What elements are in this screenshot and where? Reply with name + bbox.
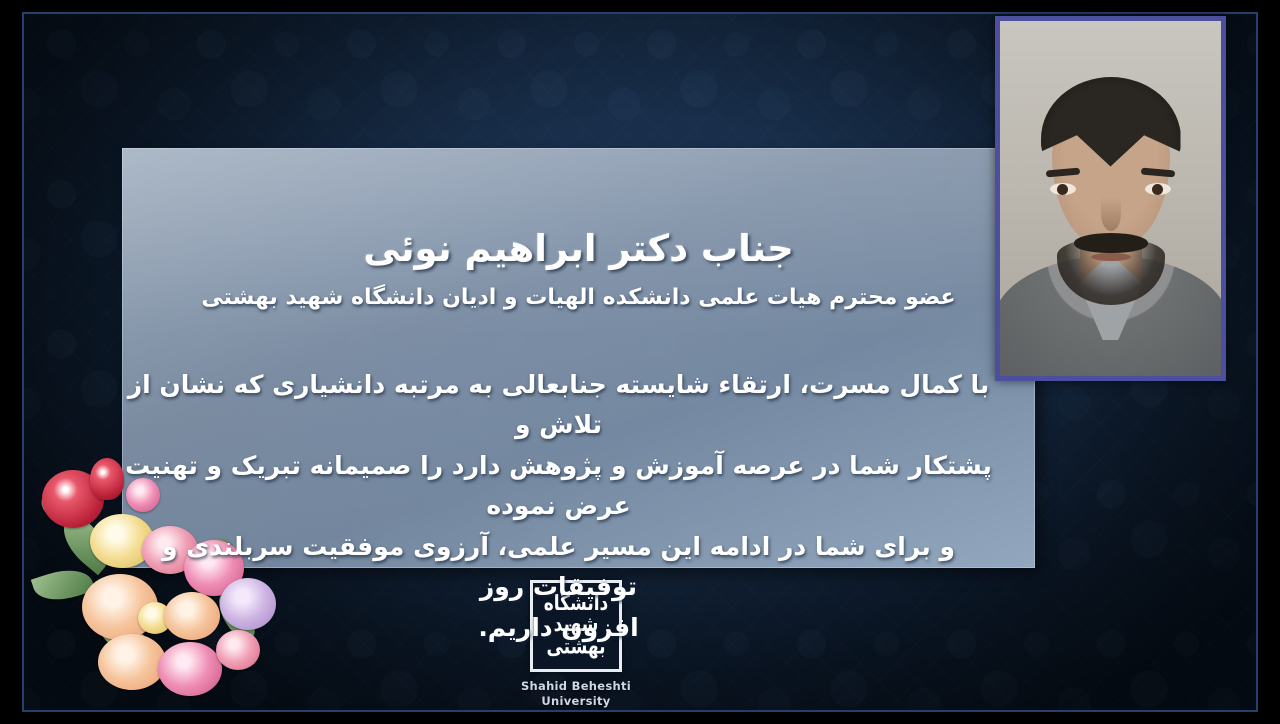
avatar bbox=[1000, 21, 1221, 376]
message-line-3: و برای شما در ادامه این مسیر علمی، آرزوی… bbox=[116, 527, 1001, 608]
message-panel: جناب دکتر ابراهیم نوئی عضو محترم هیات عل… bbox=[122, 148, 1035, 568]
portrait-eye-left bbox=[1050, 183, 1076, 195]
logo-english-line-1: Shahid Beheshti bbox=[512, 679, 640, 694]
page-title: جناب دکتر ابراهیم نوئی bbox=[156, 226, 1001, 272]
portrait-mouth bbox=[1091, 253, 1131, 261]
message-line-4: افزون داریم. bbox=[116, 608, 1001, 649]
message-line-2: پشتکار شما در عرصه آموزش و پژوهش دارد را… bbox=[116, 446, 1001, 527]
message-line-1: با کمال مسرت، ارتقاء شایسته جنابعالی به … bbox=[116, 365, 1001, 446]
congratulation-message: با کمال مسرت، ارتقاء شایسته جنابعالی به … bbox=[116, 365, 1001, 649]
logo-english-caption: Shahid Beheshti University bbox=[512, 679, 640, 708]
portrait-moustache bbox=[1074, 233, 1148, 253]
honoree-affiliation: عضو محترم هیات علمی دانشکده الهیات و ادی… bbox=[156, 284, 1001, 313]
logo-english-line-2: University bbox=[512, 694, 640, 709]
flower-magenta-icon bbox=[158, 642, 222, 696]
portrait-photo-frame bbox=[995, 16, 1226, 381]
portrait-eye-right bbox=[1145, 183, 1171, 195]
congratulation-card-slide: جناب دکتر ابراهیم نوئی عضو محترم هیات عل… bbox=[0, 0, 1280, 724]
portrait-nose bbox=[1101, 197, 1121, 231]
